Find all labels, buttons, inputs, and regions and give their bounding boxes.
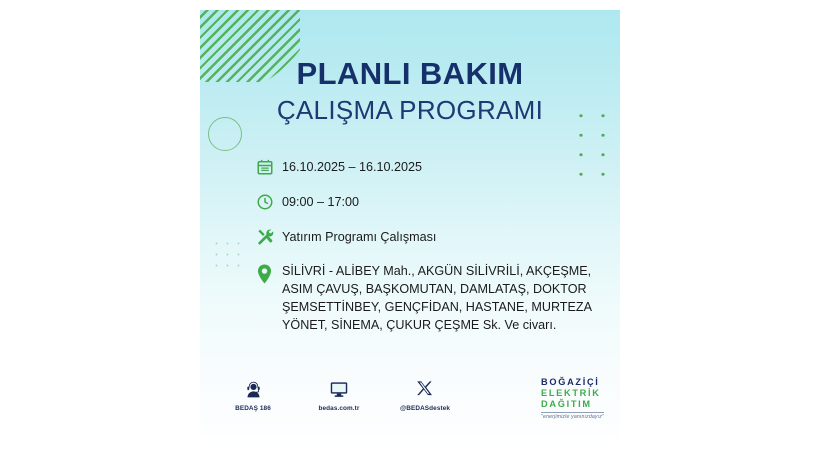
detail-worktype-text: Yatırım Programı Çalışması — [282, 228, 436, 244]
brand-line-2: ELEKTRİK — [541, 388, 604, 399]
brand-line-3: DAĞITIM — [541, 399, 604, 410]
contact-channels: BEDAŞ 186 bedas.com.tr — [222, 377, 456, 412]
contact-website-label: bedas.com.tr — [308, 405, 370, 412]
detail-date-text: 16.10.2025 – 16.10.2025 — [282, 158, 422, 174]
brand-line-1: BOĞAZİÇİ — [541, 377, 604, 388]
bedas-logo: BOĞAZİÇİ ELEKTRİK DAĞITIM "enerjimizle y… — [541, 377, 604, 420]
detail-row-address: SİLİVRİ - ALİBEY Mah., AKGÜN SİLİVRİLİ, … — [256, 263, 606, 335]
contact-website[interactable]: bedas.com.tr — [308, 377, 370, 412]
monitor-icon — [308, 377, 370, 401]
brand-tagline: "enerjimizle yanınızdayız" — [541, 414, 604, 420]
details-list: 16.10.2025 – 16.10.2025 09:00 – 17:00 — [256, 158, 606, 348]
detail-row-time: 09:00 – 17:00 — [256, 193, 606, 215]
card-footer: BEDAŞ 186 bedas.com.tr — [200, 375, 620, 437]
detail-time-text: 09:00 – 17:00 — [282, 193, 359, 209]
support-agent-icon — [222, 377, 284, 401]
contact-x-label: @BEDASdestek — [394, 405, 456, 412]
dot-grid-left-decoration — [210, 237, 247, 274]
contact-phone-label: BEDAŞ 186 — [222, 405, 284, 412]
poster-title-block: PLANLI BAKIM ÇALIŞMA PROGRAMI — [200, 58, 620, 123]
contact-phone[interactable]: BEDAŞ 186 — [222, 377, 284, 412]
calendar-icon — [256, 158, 282, 180]
maintenance-notice-card: PLANLI BAKIM ÇALIŞMA PROGRAMI — [200, 10, 620, 437]
detail-row-worktype: Yatırım Programı Çalışması — [256, 228, 606, 250]
page-title: PLANLI BAKIM — [200, 58, 620, 89]
brand-divider — [541, 412, 604, 413]
detail-row-date: 16.10.2025 – 16.10.2025 — [256, 158, 606, 180]
x-twitter-icon — [394, 377, 456, 401]
clock-icon — [256, 193, 282, 215]
screenshot-root: PLANLI BAKIM ÇALIŞMA PROGRAMI — [0, 0, 820, 461]
contact-x[interactable]: @BEDASdestek — [394, 377, 456, 412]
location-pin-icon — [256, 263, 282, 286]
detail-address-text: SİLİVRİ - ALİBEY Mah., AKGÜN SİLİVRİLİ, … — [282, 263, 606, 335]
page-subtitle: ÇALIŞMA PROGRAMI — [200, 97, 620, 123]
tools-icon — [256, 228, 282, 250]
